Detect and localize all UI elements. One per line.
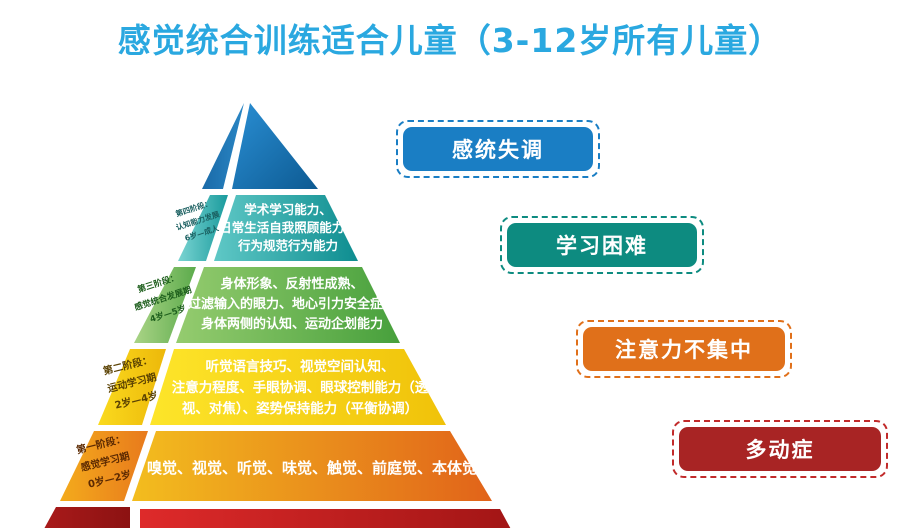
pyramid-base: 感觉统合发展金字塔: [22, 507, 538, 528]
level-3-line-3: 身体两侧的认知、运动企划能力: [201, 316, 383, 332]
callout-sensory-integration-disorder[interactable]: 感统失调: [396, 120, 600, 178]
callout-3-inner: 多动症: [679, 427, 881, 471]
pyramid-level-1: 第一阶段： 感觉学习期 0岁—2岁 嗅觉、视觉、听觉、味觉、触觉、前庭觉、本体觉: [60, 431, 492, 501]
level-1-line-1: 嗅觉、视觉、听觉、味觉、触觉、前庭觉、本体觉: [147, 459, 477, 477]
pyramid-apex: [202, 103, 318, 189]
callout-inattention[interactable]: 注意力不集中: [576, 320, 792, 378]
callout-2-label: 注意力不集中: [615, 334, 753, 364]
level-2-line-1: 听觉语言技巧、视觉空间认知、: [206, 358, 395, 375]
callout-0-inner: 感统失调: [403, 127, 593, 171]
pyramid-level-2: 第二阶段： 运动学习期 2岁—4岁 听觉语言技巧、视觉空间认知、 注意力程度、手…: [98, 349, 446, 425]
level-4-line-2: 日常生活自我照顾能力、: [219, 220, 357, 235]
callout-0-label: 感统失调: [452, 134, 544, 164]
callout-1-label: 学习困难: [556, 230, 648, 260]
level-3-line-2: 过滤输入的眼力、地心引力安全症、: [188, 296, 396, 312]
level-4-line-1: 学术学习能力、: [244, 202, 332, 217]
infographic-root: 感觉统合训练适合儿童（3-12岁所有儿童）: [0, 0, 900, 528]
callout-2-inner: 注意力不集中: [583, 327, 785, 371]
callout-adhd[interactable]: 多动症: [672, 420, 888, 478]
level-2-line-3: 视、对焦）、姿势保持能力（平衡协调）: [182, 400, 418, 417]
callout-1-inner: 学习困难: [507, 223, 697, 267]
level-4-line-3: 行为规范行为能力: [237, 238, 338, 253]
pyramid-level-4: 第四阶段： 认知能力发展 6岁—成人 学术学习能力、 日常生活自我照顾能力、 行…: [171, 195, 358, 261]
callout-3-label: 多动症: [746, 434, 815, 464]
level-2-line-2: 注意力程度、手眼协调、眼球控制能力（透: [172, 379, 429, 396]
level-3-line-1: 身体形象、反射性成熟、: [220, 276, 363, 292]
pyramid-level-3: 第三阶段： 感觉统合发展期 4岁—5岁 身体形象、反射性成熟、 过滤输入的眼力、…: [128, 267, 400, 343]
page-title: 感觉统合训练适合儿童（3-12岁所有儿童）: [0, 14, 900, 62]
callout-learning-difficulty[interactable]: 学习困难: [500, 216, 704, 274]
